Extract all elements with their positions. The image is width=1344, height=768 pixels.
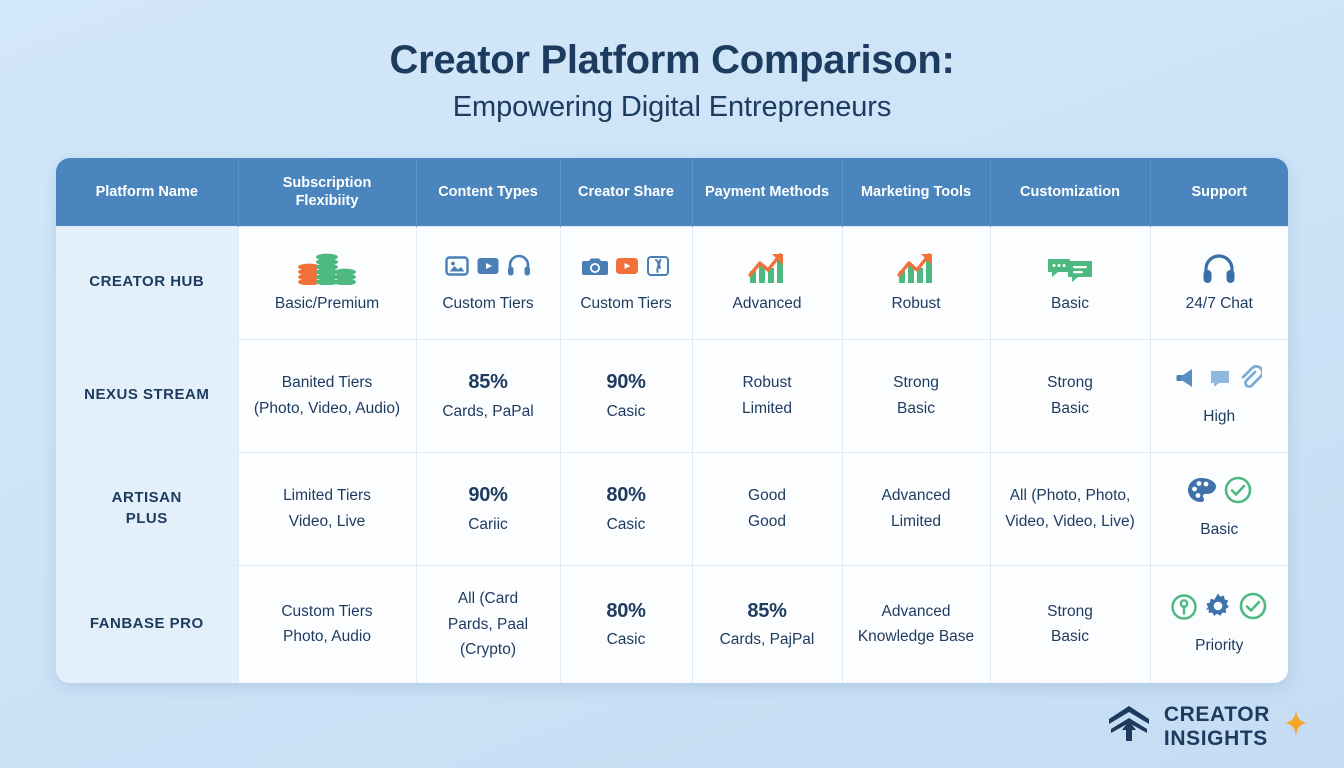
cell-value: 90% bbox=[606, 369, 645, 397]
table-row[interactable]: FANBASE PRO Custom Tiers Photo, Audio Al… bbox=[56, 565, 1288, 683]
row-label-nexus-stream: NEXUS STREAM bbox=[56, 339, 238, 452]
cell-payment-artisan-plus: Good Good bbox=[692, 452, 842, 565]
cell-text: All (Card bbox=[458, 588, 518, 609]
cell-text: Robust bbox=[891, 293, 940, 314]
cell-payment-creator-hub: Advanced bbox=[692, 226, 842, 339]
cell-subscription-fanbase-pro: Custom Tiers Photo, Audio bbox=[238, 565, 416, 683]
title-block: Creator Platform Comparison: Empowering … bbox=[0, 0, 1344, 124]
cell-text: Banited Tiers bbox=[282, 372, 372, 393]
cell-text: Custom Tiers bbox=[442, 293, 533, 314]
table-row[interactable]: ARTISAN PLUS Limited Tiers Video, Live 9… bbox=[56, 452, 1288, 565]
page-title: Creator Platform Comparison: bbox=[0, 38, 1344, 83]
house-arrow-icon bbox=[1106, 701, 1152, 752]
cell-payment-nexus-stream: Robust Limited bbox=[692, 339, 842, 452]
cell-text: Custom Tiers bbox=[281, 601, 372, 622]
row-label-artisan-plus: ARTISAN PLUS bbox=[56, 452, 238, 565]
cell-text: Advanced bbox=[882, 601, 951, 622]
cell-subscription-nexus-stream: Banited Tiers (Photo, Video, Audio) bbox=[238, 339, 416, 452]
poster-canvas: Creator Platform Comparison: Empowering … bbox=[0, 0, 1344, 768]
cell-marketing-nexus-stream: Strong Basic bbox=[842, 339, 990, 452]
table-header: Platform Name SubscriptionFlexibiity Con… bbox=[56, 158, 1288, 226]
cell-value: 80% bbox=[606, 598, 645, 626]
cell-text: Basic bbox=[1051, 398, 1089, 419]
column-header-support[interactable]: Support bbox=[1150, 158, 1288, 226]
video-play-icon bbox=[476, 254, 500, 284]
logo-line-1: CREATOR bbox=[1164, 704, 1270, 725]
table-body: CREATOR HUB bbox=[56, 226, 1288, 683]
cell-text: Cards, PaPal bbox=[442, 401, 533, 422]
cell-payment-fanbase-pro: 85% Cards, PajPal bbox=[692, 565, 842, 683]
column-header-marketing-tools[interactable]: Marketing Tools bbox=[842, 158, 990, 226]
cell-creator-share-nexus-stream: 90% Casic bbox=[560, 339, 692, 452]
growth-chart-icon bbox=[896, 251, 936, 285]
cell-content-types-fanbase-pro: All (Card Pards, Paal (Crypto) bbox=[416, 565, 560, 683]
cell-text: (Photo, Video, Audio) bbox=[254, 398, 400, 419]
column-header-subscription-flexibility[interactable]: SubscriptionFlexibiity bbox=[238, 158, 416, 226]
row-label-line2: PLUS bbox=[126, 510, 168, 527]
cell-text: Knowledge Base bbox=[858, 626, 974, 647]
growth-chart-icon bbox=[747, 251, 787, 285]
headphones-icon bbox=[1202, 251, 1236, 285]
cell-customization-artisan-plus: All (Photo, Photo, Video, Video, Live) bbox=[990, 452, 1150, 565]
key-circle-icon bbox=[1171, 594, 1197, 626]
cell-text: Advanced bbox=[882, 485, 951, 506]
row-label-fanbase-pro: FANBASE PRO bbox=[56, 565, 238, 683]
cell-text: Video, Video, Live) bbox=[1005, 511, 1135, 532]
cell-subscription-artisan-plus: Limited Tiers Video, Live bbox=[238, 452, 416, 565]
cell-text: Limited Tiers bbox=[283, 485, 371, 506]
cell-marketing-fanbase-pro: Advanced Knowledge Base bbox=[842, 565, 990, 683]
cell-text: Strong bbox=[1047, 372, 1093, 393]
speech-bubble-icon bbox=[1209, 369, 1231, 397]
brand-logo: CREATOR INSIGHTS bbox=[1106, 701, 1308, 752]
gear-icon bbox=[1204, 592, 1232, 626]
column-header-platform-name[interactable]: Platform Name bbox=[56, 158, 238, 226]
cell-customization-nexus-stream: Strong Basic bbox=[990, 339, 1150, 452]
cell-customization-fanbase-pro: Strong Basic bbox=[990, 565, 1150, 683]
table-row[interactable]: CREATOR HUB bbox=[56, 226, 1288, 339]
comparison-table: Platform Name SubscriptionFlexibiity Con… bbox=[56, 158, 1288, 683]
cell-text: Strong bbox=[893, 372, 939, 393]
cell-marketing-creator-hub: Robust bbox=[842, 226, 990, 339]
cell-text: Casic bbox=[607, 629, 646, 650]
cell-value: 80% bbox=[606, 482, 645, 510]
cell-value: 85% bbox=[747, 598, 786, 626]
cell-subscription-creator-hub: Basic/Premium bbox=[238, 226, 416, 339]
cell-content-types-artisan-plus: 90% Cariic bbox=[416, 452, 560, 565]
sparkle-icon bbox=[1284, 709, 1308, 744]
cell-support-artisan-plus: Basic bbox=[1150, 452, 1288, 565]
cell-text: (Crypto) bbox=[460, 639, 516, 660]
chat-bubbles-icon bbox=[1046, 251, 1094, 285]
cell-text: Basic bbox=[1200, 519, 1238, 540]
megaphone-icon bbox=[1176, 365, 1202, 397]
cell-text: Cariic bbox=[468, 514, 508, 535]
play-button-icon bbox=[615, 254, 639, 284]
cell-text: Robust bbox=[742, 372, 791, 393]
check-circle-icon bbox=[1224, 476, 1252, 510]
cell-text: Photo, Audio bbox=[283, 626, 371, 647]
row-label-creator-hub: CREATOR HUB bbox=[56, 226, 238, 339]
cell-content-types-creator-hub: Custom Tiers bbox=[416, 226, 560, 339]
cell-value: 90% bbox=[468, 482, 507, 510]
cell-text: Strong bbox=[1047, 601, 1093, 622]
column-header-payment-methods[interactable]: Payment Methods bbox=[692, 158, 842, 226]
cell-support-fanbase-pro: Priority bbox=[1150, 565, 1288, 683]
cell-text: Basic bbox=[1051, 293, 1089, 314]
cell-text: Pards, Paal bbox=[448, 614, 528, 635]
cell-value: 85% bbox=[468, 369, 507, 397]
cell-creator-share-artisan-plus: 80% Casic bbox=[560, 452, 692, 565]
cell-text: Good bbox=[748, 511, 786, 532]
check-circle-icon bbox=[1239, 592, 1267, 626]
column-header-customization[interactable]: Customization bbox=[990, 158, 1150, 226]
cell-text: Basic/Premium bbox=[275, 293, 379, 314]
cell-text: Priority bbox=[1195, 635, 1243, 656]
cell-text: Limited bbox=[891, 511, 941, 532]
camera-icon bbox=[582, 254, 608, 284]
cell-text: Basic bbox=[897, 398, 935, 419]
cell-text: Casic bbox=[607, 514, 646, 535]
headphones-icon bbox=[507, 252, 531, 284]
cell-text: Good bbox=[748, 485, 786, 506]
page-subtitle: Empowering Digital Entrepreneurs bbox=[0, 91, 1344, 124]
cell-text: Video, Live bbox=[289, 511, 365, 532]
image-icon bbox=[445, 254, 469, 284]
cell-content-types-nexus-stream: 85% Cards, PaPal bbox=[416, 339, 560, 452]
cell-text: 24/7 Chat bbox=[1186, 293, 1253, 314]
cell-text: Limited bbox=[742, 398, 792, 419]
cell-text: Casic bbox=[607, 401, 646, 422]
header-row: Platform Name SubscriptionFlexibiity Con… bbox=[56, 158, 1288, 226]
row-label-line1: ARTISAN bbox=[112, 489, 182, 506]
cell-text: Advanced bbox=[733, 293, 802, 314]
cell-text: Cards, PajPal bbox=[720, 629, 815, 650]
cell-text: All (Photo, Photo, bbox=[1010, 485, 1131, 506]
cell-support-creator-hub: 24/7 Chat bbox=[1150, 226, 1288, 339]
column-header-creator-share[interactable]: Creator Share bbox=[560, 158, 692, 226]
comparison-table-card: Platform Name SubscriptionFlexibiity Con… bbox=[56, 158, 1288, 683]
cell-creator-share-creator-hub: Custom Tiers bbox=[560, 226, 692, 339]
palette-icon bbox=[1187, 476, 1217, 510]
cell-creator-share-fanbase-pro: 80% Casic bbox=[560, 565, 692, 683]
cell-text: Basic bbox=[1051, 626, 1089, 647]
cell-text: Custom Tiers bbox=[580, 293, 671, 314]
coin-stack-icon bbox=[296, 251, 358, 285]
cell-marketing-artisan-plus: Advanced Limited bbox=[842, 452, 990, 565]
logo-line-2: INSIGHTS bbox=[1164, 728, 1270, 749]
cell-support-nexus-stream: High bbox=[1150, 339, 1288, 452]
paperclip-icon bbox=[1238, 365, 1262, 397]
logo-wordmark: CREATOR INSIGHTS bbox=[1164, 704, 1270, 749]
column-header-content-types[interactable]: Content Types bbox=[416, 158, 560, 226]
table-row[interactable]: NEXUS STREAM Banited Tiers (Photo, Video… bbox=[56, 339, 1288, 452]
cell-text: High bbox=[1203, 406, 1235, 427]
cell-customization-creator-hub: Basic bbox=[990, 226, 1150, 339]
bookmark-icon bbox=[646, 254, 670, 284]
